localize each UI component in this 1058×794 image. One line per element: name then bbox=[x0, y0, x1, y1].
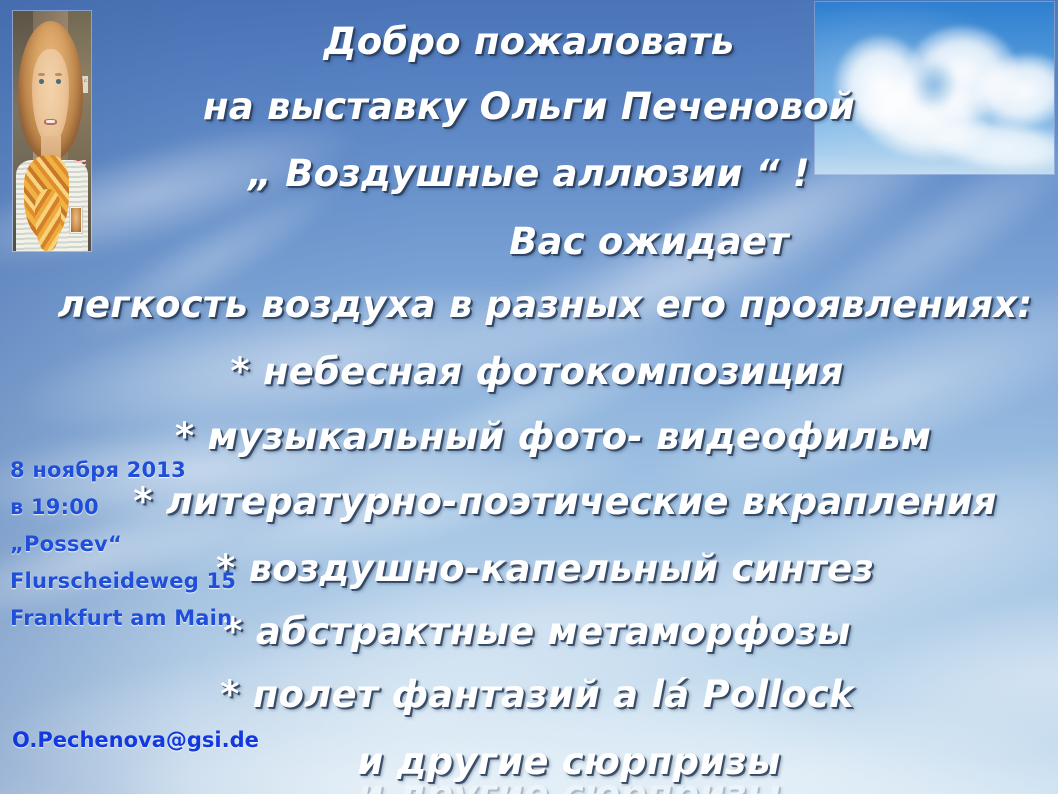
portrait-eyebrow-right bbox=[55, 73, 62, 75]
event-info-block: 8 ноября 2013 в 19:00 „Possev“ Flurschei… bbox=[10, 452, 310, 637]
contact-email[interactable]: O.Pechenova@gsi.de bbox=[12, 728, 259, 752]
presentation-slide: TED C Добро пожаловать на выставку Ольги… bbox=[0, 0, 1058, 794]
headline-line-1: Добро пожаловать bbox=[0, 20, 1058, 63]
event-venue: „Possev“ bbox=[10, 526, 310, 563]
event-street: Flurscheideweg 15 bbox=[10, 563, 310, 600]
intro-line-2: легкость воздуха в разных его проявления… bbox=[0, 283, 1058, 326]
headline-line-3: „ Воздушные аллюзии “ ! bbox=[0, 152, 1058, 195]
headline-line-2: на выставку Ольги Печеновой bbox=[0, 85, 1058, 128]
event-time: в 19:00 bbox=[10, 489, 310, 526]
event-date: 8 ноября 2013 bbox=[10, 452, 310, 489]
bullet-item-1: * небесная фотокомпозиция bbox=[0, 350, 1058, 393]
event-city: Frankfurt am Main bbox=[10, 600, 310, 637]
portrait-eyebrow-left bbox=[38, 73, 45, 75]
intro-line-1: Вас ожидает bbox=[0, 220, 1058, 263]
cut-off-bottom-line: и другие сюрпризы bbox=[0, 772, 1058, 794]
bullet-item-6: * полет фантазий a lá Pollock bbox=[0, 673, 1058, 716]
